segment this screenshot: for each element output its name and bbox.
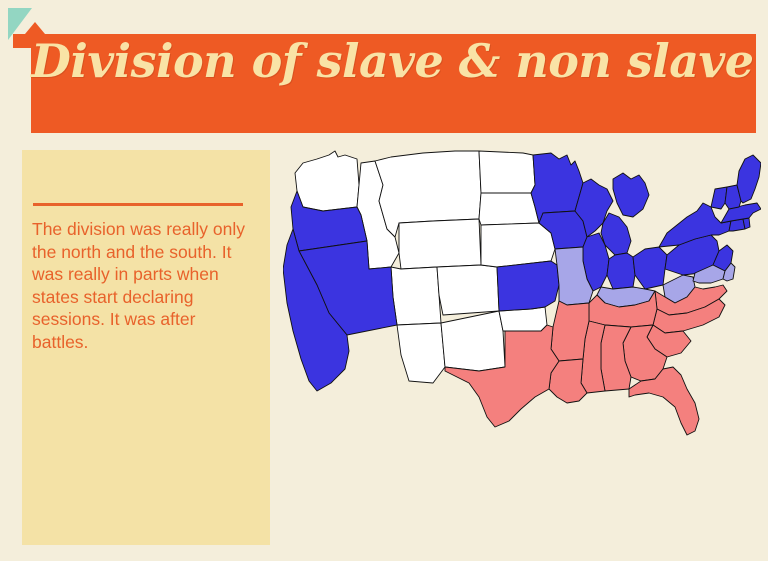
map-region-IN	[607, 253, 635, 289]
description-panel: The division was really only the north a…	[22, 150, 270, 545]
map-region-WY	[399, 219, 481, 269]
us-map-svg	[283, 145, 761, 440]
map-region-KS	[497, 261, 559, 311]
map-region-UT	[391, 267, 441, 325]
slide-canvas: Division of slave & non slave states The…	[0, 0, 768, 561]
map-region-NE	[481, 223, 555, 267]
map-region-ME	[737, 155, 761, 203]
description-text: The division was really only the north a…	[32, 218, 247, 353]
map-region-VT	[711, 187, 727, 209]
map-region-OH	[633, 247, 667, 289]
us-map	[283, 145, 761, 440]
map-region-MI	[601, 173, 649, 255]
map-region-AR	[551, 301, 589, 361]
map-region-AZ	[397, 323, 445, 383]
panel-divider	[33, 203, 243, 206]
map-region-NM	[441, 311, 505, 371]
page-title: Division of slave & non slave states	[31, 34, 768, 88]
title-banner-content: Division of slave & non slave states	[13, 18, 756, 133]
map-region-SD	[479, 193, 539, 225]
map-region-CO	[437, 265, 499, 315]
map-region-ND	[479, 151, 535, 193]
map-region-WA	[295, 151, 359, 211]
